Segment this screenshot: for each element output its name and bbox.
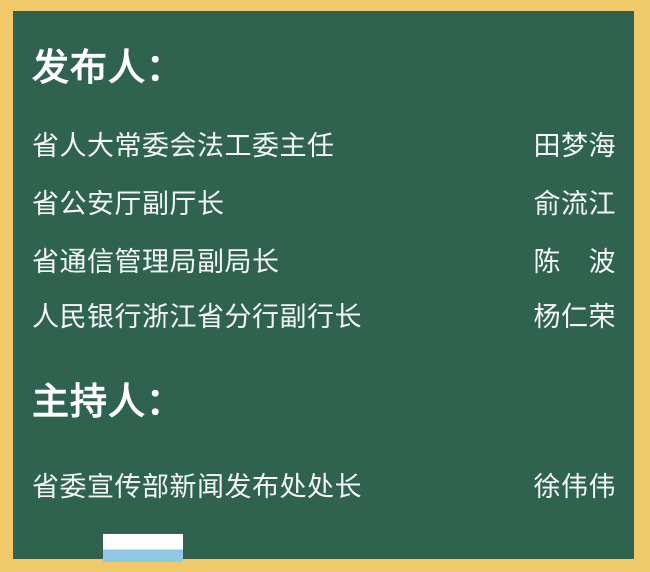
speaker-row: 省公安厅副厅长 俞流江 bbox=[32, 191, 616, 218]
host-title: 省委宣传部新闻发布处处长 bbox=[32, 474, 362, 501]
card-content: 发布人： 省人大常委会法工委主任 田梦海 省公安厅副厅长 俞流江 省通信管理局副… bbox=[13, 11, 634, 559]
speaker-name: 陈 波 bbox=[534, 249, 617, 276]
speaker-title: 省人大常委会法工委主任 bbox=[32, 133, 335, 160]
speaker-row: 省通信管理局副局长 陈 波 bbox=[32, 249, 616, 276]
speaker-title: 省通信管理局副局长 bbox=[32, 249, 280, 276]
speaker-name: 杨仁荣 bbox=[534, 304, 617, 331]
press-conference-card: 发布人： 省人大常委会法工委主任 田梦海 省公安厅副厅长 俞流江 省通信管理局副… bbox=[0, 0, 650, 572]
section-heading-speakers: 发布人： bbox=[32, 49, 184, 86]
green-panel: 发布人： 省人大常委会法工委主任 田梦海 省公安厅副厅长 俞流江 省通信管理局副… bbox=[13, 11, 634, 559]
speaker-name: 田梦海 bbox=[534, 133, 617, 160]
speaker-name: 俞流江 bbox=[534, 191, 617, 218]
section-heading-host: 主持人： bbox=[32, 383, 184, 420]
speaker-title: 省公安厅副厅长 bbox=[32, 191, 225, 218]
speaker-title: 人民银行浙江省分行副行长 bbox=[32, 304, 362, 331]
speaker-row: 省人大常委会法工委主任 田梦海 bbox=[32, 133, 616, 160]
host-name: 徐伟伟 bbox=[534, 474, 617, 501]
speaker-row: 人民银行浙江省分行副行长 杨仁荣 bbox=[32, 304, 616, 331]
host-row: 省委宣传部新闻发布处处长 徐伟伟 bbox=[32, 474, 616, 501]
bottom-marker-decoration bbox=[103, 534, 183, 562]
